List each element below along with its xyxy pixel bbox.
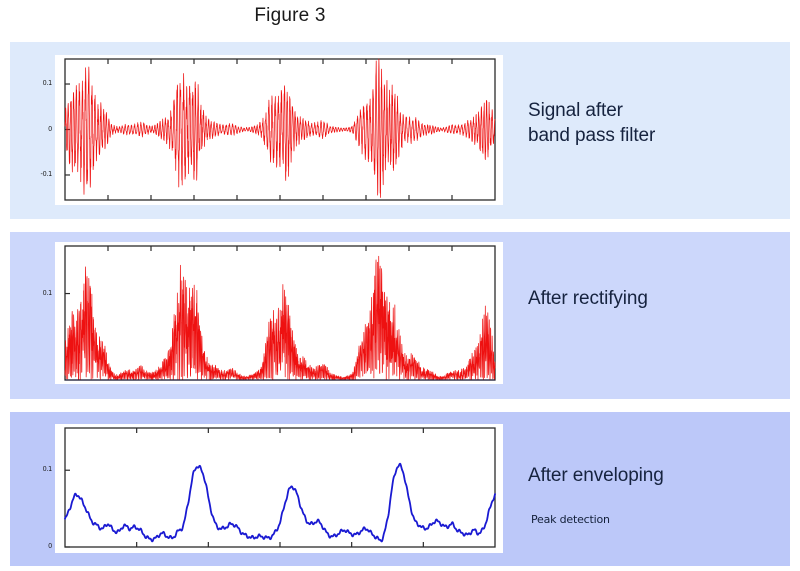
ytick-label-p3-0: 0.1	[21, 465, 52, 473]
panel-band-pass-filter: 0.1 0 -0.1 Signal after band pass filter	[10, 42, 790, 219]
figure-root: Figure 3 0.1 0 -0.1 Signal after band pa…	[0, 0, 800, 571]
caption-peak-detection: Peak detection	[531, 513, 610, 527]
caption-rectifying: After rectifying	[528, 287, 648, 312]
plot-band-pass-filter	[55, 55, 503, 205]
ytick-label-p3-1: 0	[21, 542, 52, 550]
ytick-label-p1-2: -0.1	[21, 170, 52, 178]
ytick-label-p2-0: 0.1	[21, 289, 52, 297]
plot-rectifying	[55, 242, 503, 384]
ytick-label-p1-0: 0.1	[21, 79, 52, 87]
figure-title: Figure 3	[180, 5, 400, 27]
panel-rectifying: 0.1 After rectifying	[10, 232, 790, 399]
ytick-label-p1-1: 0	[21, 125, 52, 133]
caption-enveloping: After enveloping	[528, 464, 664, 489]
panel-enveloping: 0.1 0 After enveloping Peak detection	[10, 412, 790, 566]
caption-band-pass-filter: Signal after band pass filter	[528, 99, 655, 148]
plot-enveloping	[55, 424, 503, 553]
plot-svg-enveloping	[55, 424, 503, 553]
plot-svg-band-pass-filter	[55, 55, 503, 205]
plot-svg-rectifying	[55, 242, 503, 384]
